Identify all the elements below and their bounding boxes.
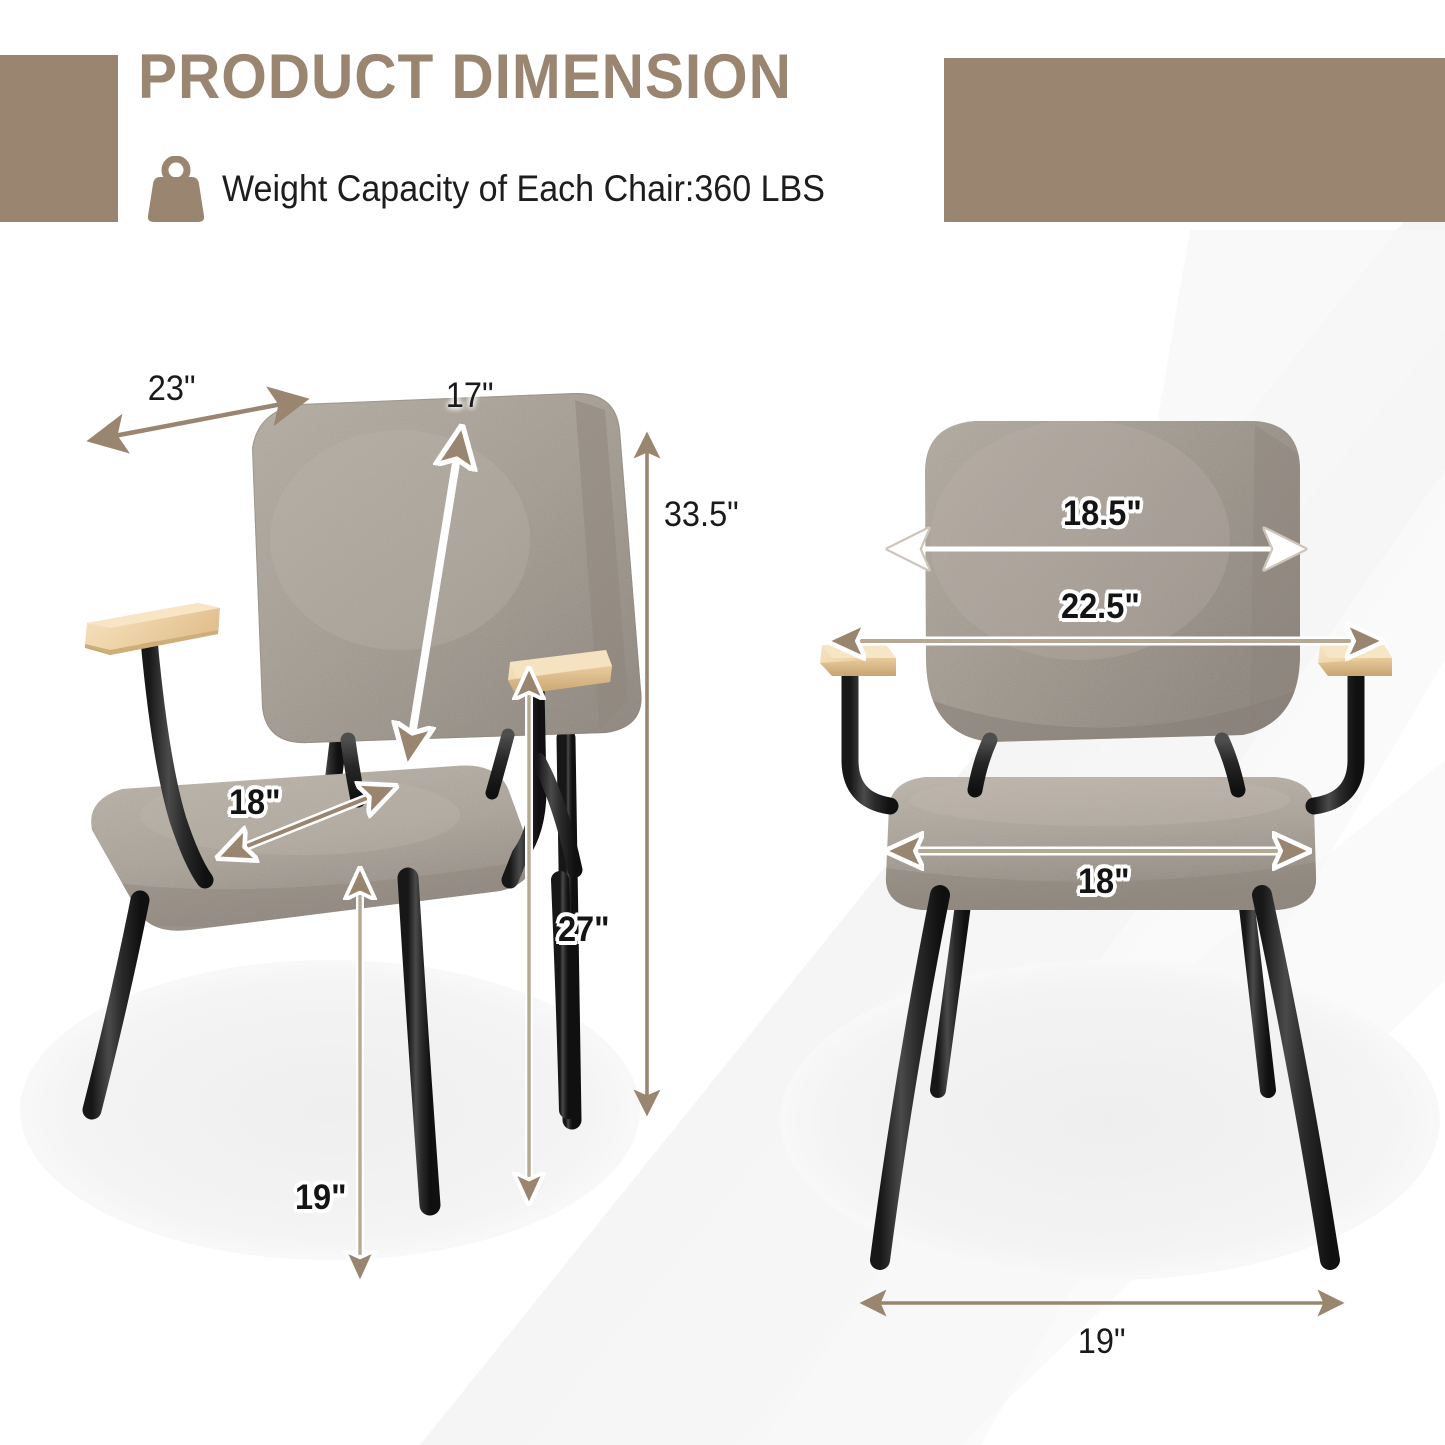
dim-label-27in: 27"	[558, 910, 610, 950]
dim-label-19in-leg-span: 19"	[1078, 1322, 1126, 1362]
header-accent-bar-right	[944, 58, 1445, 222]
weight-icon	[148, 156, 204, 222]
product-dimension-infographic: PRODUCT DIMENSION Weight Capacity of Eac…	[0, 0, 1445, 1445]
header-accent-bar-left	[0, 55, 118, 222]
dim-label-33_5in: 33.5"	[664, 495, 739, 535]
dim-label-18in-seat-width: 18"	[1078, 862, 1130, 902]
dim-line-17in	[408, 432, 461, 760]
dim-label-17in: 17"	[446, 376, 494, 416]
dim-label-18_5in: 18.5"	[1063, 494, 1142, 534]
dim-line-23in	[93, 400, 303, 440]
dim-label-18in-seat-depth: 18"	[229, 783, 281, 823]
weight-capacity-text: Weight Capacity of Each Chair:360 LBS	[222, 168, 825, 210]
dim-label-23in: 23"	[148, 369, 196, 409]
page-title: PRODUCT DIMENSION	[138, 44, 792, 110]
dim-label-22_5in: 22.5"	[1061, 587, 1140, 627]
dim-label-19in-seat-height: 19"	[295, 1178, 347, 1218]
weight-capacity-line: Weight Capacity of Each Chair:360 LBS	[148, 156, 877, 222]
